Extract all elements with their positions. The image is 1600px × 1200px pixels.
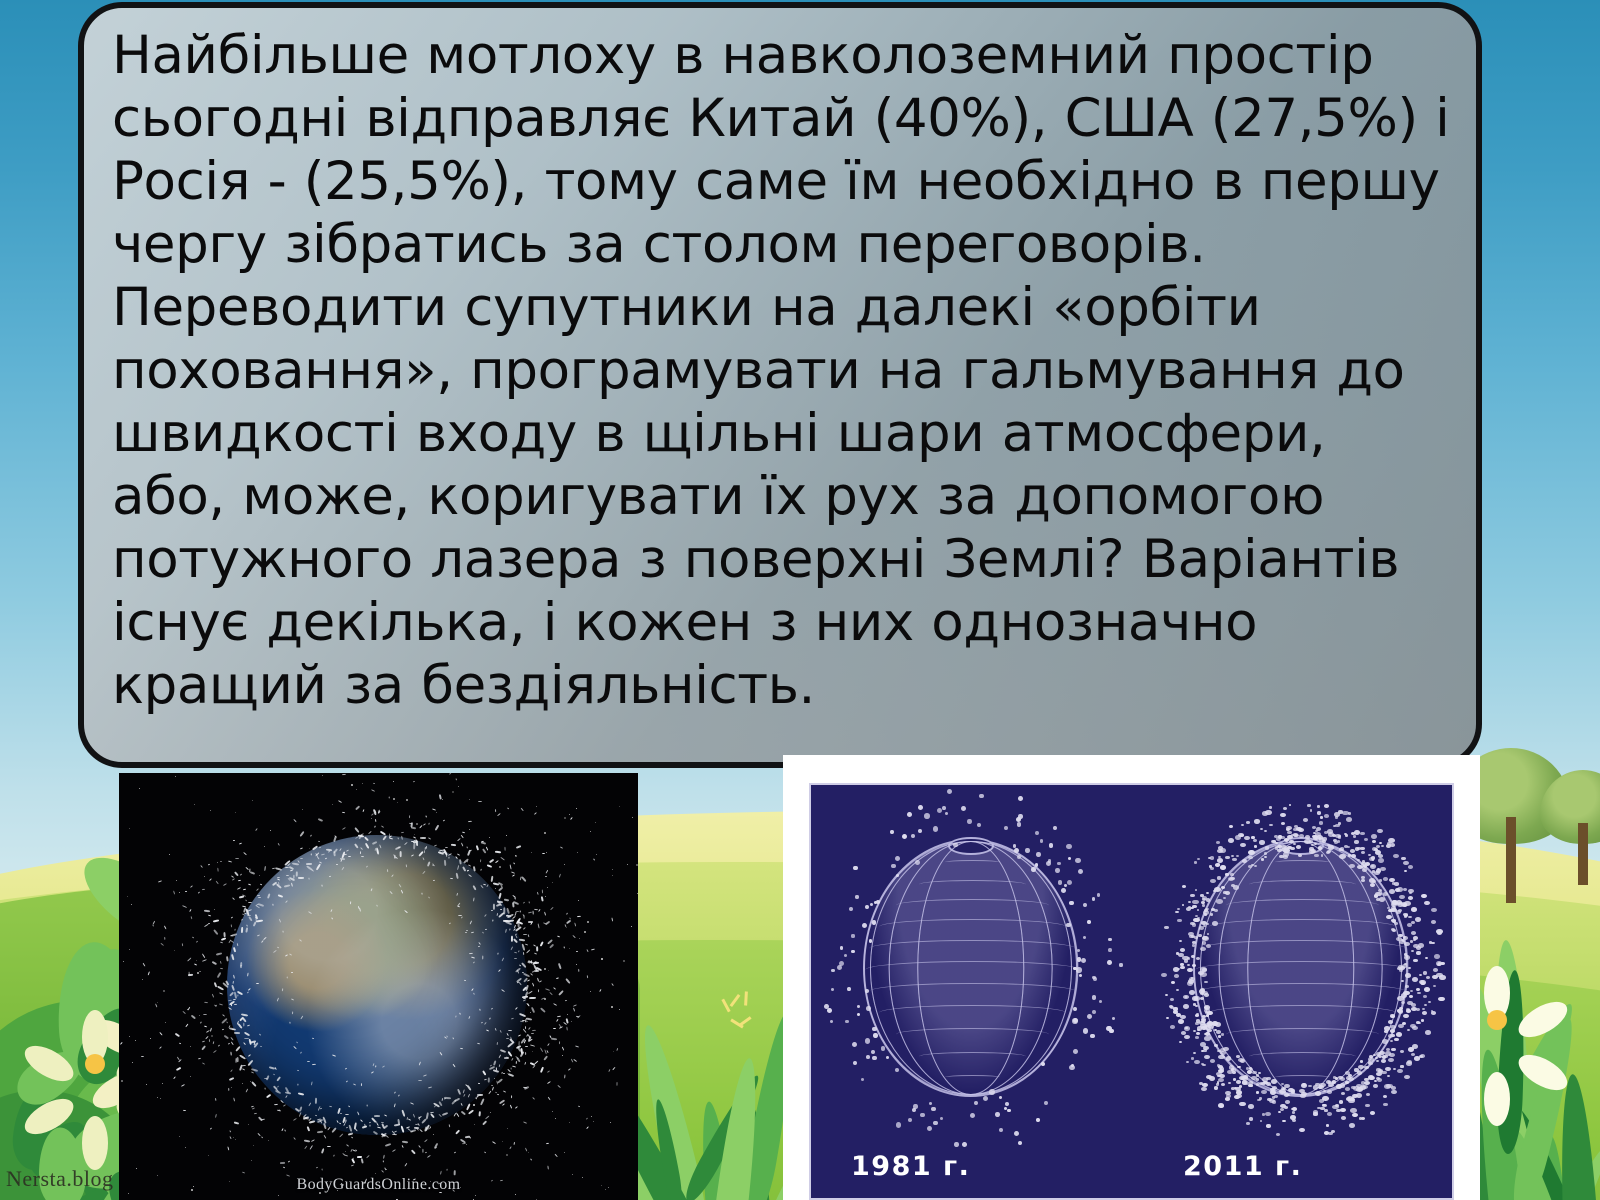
debris-dot <box>1256 1083 1259 1085</box>
star-dot <box>393 781 394 782</box>
debris-dot <box>1092 897 1096 901</box>
site-watermark: Nersta.blog <box>6 1166 114 1192</box>
debris-dot <box>1366 1093 1370 1096</box>
debris-dot <box>1376 1072 1382 1076</box>
debris-dot <box>1266 1124 1271 1127</box>
star-dot <box>627 864 628 865</box>
debris-dot <box>1358 1065 1363 1069</box>
star-dot <box>595 822 596 823</box>
debris-dot <box>1254 865 1257 867</box>
debris-dot <box>1368 1075 1374 1079</box>
debris-dot <box>1394 922 1398 925</box>
debris-dot <box>1231 855 1234 857</box>
debris-particle <box>482 956 483 960</box>
debris-dot <box>1077 949 1080 952</box>
debris-dot <box>1079 974 1082 977</box>
debris-dot <box>1376 1052 1381 1056</box>
debris-dot <box>977 823 981 827</box>
star-dot <box>636 864 638 866</box>
star-dot <box>136 1168 137 1169</box>
debris-dot <box>1216 841 1220 844</box>
debris-dot <box>1041 1062 1045 1066</box>
star-dot <box>196 960 197 961</box>
debris-dot <box>1345 1087 1350 1091</box>
star-dot <box>564 1152 565 1153</box>
star-dot <box>579 938 580 939</box>
debris-dot <box>1407 923 1412 927</box>
star-dot <box>584 931 586 933</box>
star-dot <box>567 1014 568 1015</box>
slide-canvas: Найбільше мотлоху в навколоземний прості… <box>0 0 1600 1200</box>
debris-dot <box>1018 1141 1022 1145</box>
flower-center <box>1487 1010 1507 1030</box>
debris-dot <box>1361 851 1365 854</box>
debris-dot <box>895 1068 899 1072</box>
debris-dot <box>1180 948 1185 952</box>
debris-dot <box>1412 977 1418 982</box>
debris-dot <box>1018 796 1023 801</box>
debris-dot <box>929 1102 932 1105</box>
debris-dot <box>1075 858 1080 863</box>
debris-dot <box>1192 905 1197 909</box>
star-dot <box>531 852 532 853</box>
star-dot <box>569 948 570 949</box>
debris-dot <box>1422 1008 1425 1010</box>
star-dot <box>555 1118 556 1119</box>
debris-dot <box>1391 1090 1397 1094</box>
debris-dot <box>873 1033 877 1037</box>
debris-dot <box>1307 804 1310 807</box>
debris-dot <box>1410 990 1414 993</box>
debris-dot <box>1397 1009 1403 1013</box>
star-dot <box>278 1195 279 1196</box>
star-dot <box>233 1137 234 1138</box>
star-dot <box>345 1151 346 1152</box>
debris-dot <box>1391 1048 1395 1051</box>
debris-dot <box>1423 995 1427 998</box>
debris-particle <box>541 896 543 901</box>
debris-dot <box>1387 1075 1390 1077</box>
debris-dot <box>1018 814 1022 818</box>
globe-parallel <box>1199 983 1407 1000</box>
debris-particle <box>519 938 525 941</box>
debris-dot <box>1195 889 1198 891</box>
debris-dot <box>1379 879 1382 881</box>
debris-dot <box>1093 977 1097 981</box>
debris-dot <box>1317 805 1320 807</box>
star-dot <box>469 799 470 800</box>
star-dot <box>631 926 632 927</box>
debris-dot <box>1180 966 1185 970</box>
debris-dot <box>1425 1030 1431 1034</box>
debris-dot <box>1345 1071 1350 1075</box>
star-dot <box>406 799 408 801</box>
debris-dot <box>979 794 983 798</box>
debris-dot <box>1362 868 1367 872</box>
star-dot <box>165 1022 166 1023</box>
debris-dot <box>1202 904 1205 906</box>
debris-dot <box>1359 1117 1362 1120</box>
debris-dot <box>1396 1032 1402 1036</box>
debris-dot <box>1193 918 1199 923</box>
debris-dot <box>1214 1086 1219 1090</box>
debris-dot <box>853 1061 857 1065</box>
debris-dot <box>918 805 923 810</box>
debris-dot <box>1390 1029 1395 1033</box>
debris-dot <box>1393 854 1399 858</box>
earth-globe <box>227 835 527 1135</box>
debris-dot <box>1364 1066 1369 1070</box>
debris-dot <box>1383 892 1389 896</box>
debris-dot <box>1228 838 1234 843</box>
star-dot <box>231 1087 232 1088</box>
star-dot <box>416 823 418 825</box>
debris-dot <box>1403 888 1407 891</box>
debris-dot <box>1396 910 1401 914</box>
debris-particle <box>315 1098 317 1104</box>
debris-particle <box>511 936 513 942</box>
debris-dot <box>989 1089 994 1094</box>
flower-center <box>85 1054 105 1074</box>
debris-dot <box>970 1113 975 1118</box>
debris-particle <box>341 773 345 775</box>
debris-dot <box>1233 885 1239 889</box>
debris-dot <box>1259 1097 1263 1100</box>
star-dot <box>548 970 549 971</box>
debris-dot <box>947 789 952 794</box>
debris-dot <box>1210 867 1214 870</box>
debris-dot <box>1260 1120 1263 1122</box>
star-dot <box>547 887 548 888</box>
star-dot <box>194 804 195 805</box>
debris-dot <box>1194 936 1198 939</box>
debris-dot <box>1253 839 1257 842</box>
debris-dot <box>1415 917 1421 922</box>
debris-dot <box>1164 926 1169 930</box>
star-dot <box>562 1055 563 1056</box>
debris-dot <box>1326 1124 1329 1126</box>
debris-dot <box>1406 955 1409 957</box>
debris-dot <box>1372 870 1375 872</box>
debris-dot <box>1217 876 1222 879</box>
debris-dot <box>1280 1108 1284 1111</box>
debris-dot <box>1370 1111 1375 1115</box>
star-dot <box>452 791 454 793</box>
debris-dot <box>1256 1074 1259 1076</box>
star-dot <box>268 1140 269 1141</box>
debris-dot <box>1248 850 1254 855</box>
debris-dot <box>1404 914 1408 917</box>
star-dot <box>175 776 176 777</box>
star-dot <box>169 854 170 855</box>
debris-dot <box>1226 1056 1232 1060</box>
debris-dot <box>1190 894 1195 898</box>
debris-dot <box>1364 1081 1370 1085</box>
debris-dot <box>1312 826 1316 829</box>
debris-dot <box>862 923 867 928</box>
debris-particle <box>289 1021 290 1023</box>
debris-dot <box>1281 822 1285 825</box>
debris-dot <box>1318 846 1323 850</box>
debris-dot <box>1361 876 1365 879</box>
debris-particle <box>444 860 447 866</box>
debris-dot <box>1405 973 1411 977</box>
debris-dot <box>1413 939 1416 941</box>
debris-dot <box>1285 1100 1290 1104</box>
star-dot <box>566 927 567 928</box>
debris-dot <box>1073 1049 1078 1054</box>
debris-dot <box>1289 804 1292 806</box>
debris-dot <box>1014 1131 1019 1136</box>
debris-dot <box>1361 1081 1366 1085</box>
star-dot <box>129 828 130 829</box>
debris-dot <box>1193 1052 1196 1054</box>
star-dot <box>199 1015 200 1016</box>
debris-dot <box>1381 1059 1386 1063</box>
debris-dot <box>1170 1025 1175 1029</box>
debris-dot <box>1076 967 1081 972</box>
star-dot <box>251 1160 252 1161</box>
debris-dot <box>1210 1059 1215 1063</box>
debris-dot <box>913 1104 917 1108</box>
debris-dot <box>1197 909 1200 911</box>
star-dot <box>475 1195 476 1196</box>
star-dot <box>351 784 353 786</box>
globe-parallel <box>1209 1005 1395 1021</box>
debris-dot <box>1303 818 1308 822</box>
debris-dot <box>1187 964 1190 966</box>
star-dot <box>490 1112 491 1113</box>
debris-particle <box>258 897 261 898</box>
star-dot <box>612 875 613 876</box>
debris-dot <box>1254 845 1258 848</box>
star-dot <box>393 798 395 800</box>
debris-dot <box>1299 1128 1305 1132</box>
star-dot <box>619 806 620 807</box>
debris-dot <box>1436 929 1442 934</box>
debris-dot <box>1400 1050 1404 1053</box>
star-dot <box>322 775 323 776</box>
debris-dot <box>1194 1060 1200 1064</box>
debris-dot <box>1097 893 1101 897</box>
debris-dot <box>1304 839 1310 844</box>
debris-dot <box>1399 895 1405 900</box>
debris-dot <box>1338 822 1341 824</box>
star-dot <box>176 880 177 881</box>
debris-dot <box>1272 840 1276 843</box>
debris-dot <box>1327 1112 1332 1116</box>
debris-particle <box>235 1058 237 1063</box>
debris-dot <box>1204 1033 1207 1035</box>
earth-orbital-debris-photo: BodyGuardsOnline.com <box>119 773 638 1200</box>
globe-parallel <box>879 1005 1065 1021</box>
debris-dot <box>1108 948 1112 952</box>
debris-dot <box>1404 1075 1410 1080</box>
debris-dot <box>1187 957 1190 959</box>
star-dot <box>185 1147 186 1148</box>
debris-dot <box>1202 898 1206 901</box>
star-dot <box>612 869 613 870</box>
debris-dot <box>1396 900 1402 905</box>
star-dot <box>569 1122 570 1123</box>
debris-dot <box>1206 923 1209 925</box>
debris-dot <box>1321 854 1324 856</box>
debris-dot <box>1068 857 1072 861</box>
debris-dot <box>1053 826 1057 830</box>
star-dot <box>259 875 260 876</box>
debris-particle <box>514 951 517 953</box>
debris-dot <box>1205 1011 1208 1014</box>
debris-dot <box>1044 1101 1048 1105</box>
debris-dot <box>849 907 853 911</box>
debris-dot <box>983 1096 988 1101</box>
globe-parallel <box>1195 961 1410 979</box>
debris-dot <box>1271 1079 1277 1083</box>
debris-dot <box>1282 1120 1285 1122</box>
star-dot <box>611 1006 613 1008</box>
debris-dot <box>827 1008 832 1013</box>
debris-dot <box>1357 1071 1362 1074</box>
star-dot <box>571 1021 572 1022</box>
debris-dot <box>962 1142 967 1147</box>
debris-dot <box>1370 883 1375 887</box>
star-dot <box>157 1002 158 1003</box>
debris-dot <box>1064 884 1067 887</box>
debris-dot <box>1377 1078 1382 1082</box>
debris-dot <box>1119 963 1122 966</box>
image-credit: BodyGuardsOnline.com <box>119 1176 638 1194</box>
debris-dot <box>1188 979 1194 984</box>
globe-parallel <box>896 899 1048 912</box>
debris-dot <box>1394 882 1399 885</box>
debris-dot <box>1324 814 1329 818</box>
star-dot <box>375 1173 376 1174</box>
debris-dot <box>895 856 900 861</box>
debris-dot <box>937 808 942 813</box>
debris-dot <box>1403 1014 1408 1018</box>
debris-dot <box>861 1078 864 1081</box>
debris-dot <box>1270 1088 1275 1091</box>
debris-dot <box>1348 854 1351 856</box>
star-dot <box>564 864 565 865</box>
debris-dot <box>1409 995 1414 998</box>
debris-dot <box>1262 1113 1265 1116</box>
star-dot <box>442 799 443 800</box>
debris-particle <box>413 843 416 850</box>
debris-dot <box>1338 836 1341 838</box>
debris-dot <box>871 1050 875 1054</box>
debris-dot <box>920 1113 924 1117</box>
debris-dot <box>1352 1113 1358 1117</box>
debris-dot <box>844 954 847 957</box>
debris-dot <box>1216 899 1222 904</box>
debris-dot <box>902 834 907 839</box>
debris-dot <box>1335 1104 1339 1107</box>
star-dot <box>139 788 140 789</box>
debris-dot <box>1256 1078 1259 1080</box>
debris-dot <box>1388 1058 1394 1062</box>
debris-particle <box>387 869 389 872</box>
star-dot <box>174 950 175 951</box>
debris-dot <box>865 1038 870 1043</box>
debris-dot <box>1369 878 1375 883</box>
debris-dot <box>1418 943 1424 947</box>
debris-dot <box>1408 865 1413 869</box>
debris-dot <box>1248 1084 1253 1088</box>
debris-dot <box>967 819 972 824</box>
star-dot <box>532 1051 533 1052</box>
debris-dot <box>1202 1083 1207 1087</box>
debris-dot <box>1106 1026 1111 1031</box>
debris-dot <box>1004 826 1008 830</box>
debris-particle <box>420 836 426 838</box>
debris-dot <box>1176 989 1179 991</box>
debris-dot <box>1264 852 1267 854</box>
debris-dot <box>1083 1028 1088 1033</box>
star-dot <box>506 1154 508 1156</box>
debris-dot <box>1328 1081 1332 1084</box>
debris-dot <box>1230 873 1233 876</box>
debris-dot <box>1289 840 1294 844</box>
debris-dot <box>933 1121 938 1126</box>
debris-dot <box>1183 1004 1189 1009</box>
debris-dot <box>1284 1106 1288 1109</box>
star-dot <box>127 896 128 897</box>
sparkle-icon <box>744 992 748 1006</box>
star-dot <box>129 949 130 950</box>
debris-dot <box>1328 845 1334 849</box>
star-dot <box>235 1139 236 1140</box>
debris-dot <box>1216 1030 1221 1034</box>
globe-parallel <box>919 1052 1027 1061</box>
star-dot <box>528 1152 529 1153</box>
debris-dot <box>1254 819 1260 823</box>
star-dot <box>590 831 591 832</box>
debris-dot <box>886 1056 889 1059</box>
debris-dot <box>1379 897 1385 902</box>
debris-dot <box>1191 1057 1194 1059</box>
debris-dot <box>1166 1017 1169 1019</box>
debris-dot <box>1339 854 1345 859</box>
debris-dot <box>1246 821 1250 824</box>
debris-particle <box>315 1114 317 1116</box>
star-dot <box>546 852 547 853</box>
debris-dot <box>1404 870 1407 872</box>
debris-dot <box>1189 990 1195 995</box>
debris-particle <box>563 946 565 949</box>
debris-dot <box>1327 1090 1332 1094</box>
star-dot <box>179 892 180 893</box>
debris-dot <box>1196 1032 1200 1035</box>
debris-dot <box>1434 954 1440 958</box>
debris-dot <box>1284 1093 1289 1097</box>
debris-dot <box>1221 1083 1226 1087</box>
star-dot <box>235 812 236 813</box>
debris-dot <box>1333 1076 1336 1078</box>
debris-dot <box>1410 940 1413 942</box>
star-dot <box>397 802 398 803</box>
debris-dot <box>1216 1083 1219 1085</box>
star-dot <box>632 817 633 818</box>
debris-dot <box>1379 842 1382 844</box>
debris-dot <box>1411 931 1416 935</box>
diagram-panel: 1981 г. 2011 г. <box>809 783 1454 1200</box>
debris-dot <box>1272 1100 1276 1103</box>
debris-dot <box>1203 925 1206 927</box>
debris-dot <box>1411 950 1414 952</box>
debris-particle <box>537 946 539 951</box>
flower-petal <box>1484 1072 1510 1126</box>
